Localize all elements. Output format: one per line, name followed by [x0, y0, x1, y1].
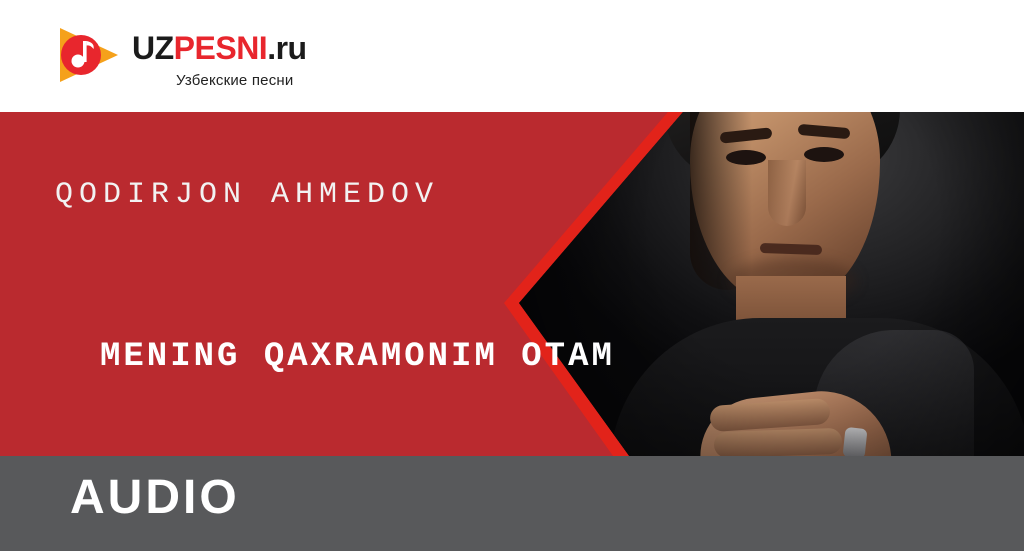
logo-text-uz: UZ [132, 30, 174, 66]
header-band: UZPESNI.ru Узбекские песни [0, 0, 1024, 112]
play-button-music-note-icon [56, 24, 122, 86]
format-badge-audio: AUDIO [70, 470, 240, 525]
site-logo-tagline: Узбекские песни [176, 72, 293, 89]
artist-name: Qodirjon Ahmedov [55, 178, 439, 212]
logo-text-ru: .ru [267, 30, 306, 66]
site-logo-text: UZPESNI.ru [132, 30, 307, 67]
logo-text-pesni: PESNI [174, 30, 268, 66]
song-title: Mening qaxramonim otam [100, 338, 615, 376]
site-logo[interactable]: UZPESNI.ru Узбекские песни [56, 18, 376, 96]
release-cover-image: Ibanez [0, 0, 1024, 551]
